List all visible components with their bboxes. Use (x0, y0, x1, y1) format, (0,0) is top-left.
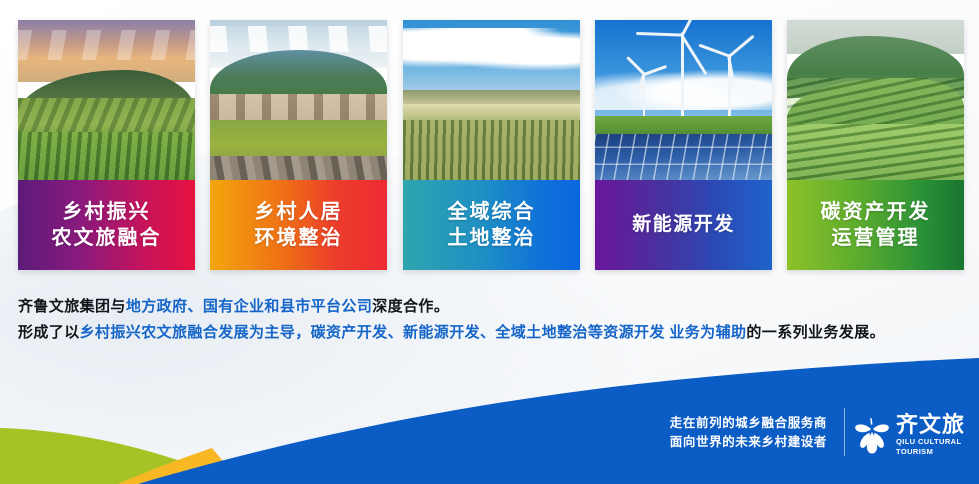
body-copy: 齐鲁文旅集团与地方政府、国有企业和县市平台公司深度合作。 形成了以乡村振兴农文旅… (18, 294, 938, 346)
card-comprehensive-land-consolidation[interactable]: 全域综合 土地整治 (403, 20, 580, 270)
copy-p1-part-c: 深度合作。 (372, 298, 449, 315)
card-rural-revitalization[interactable]: 乡村振兴 农文旅融合 (18, 20, 195, 270)
footer-tagline-line1: 走在前列的城乡融合服务商 (670, 414, 827, 433)
footer-tagline: 走在前列的城乡融合服务商 面向世界的未来乡村建设者 (670, 414, 827, 452)
card-label-band: 新能源开发 (595, 180, 772, 270)
card-rural-living-environment[interactable]: 乡村人居 环境整治 (210, 20, 387, 270)
card-label-line2: 农文旅融合 (52, 225, 162, 251)
card-label-band: 全域综合 土地整治 (403, 180, 580, 270)
card-photo-village-houses-stone-wall (210, 20, 387, 180)
brand-name-en-line1: QILU CULTURAL (896, 437, 965, 447)
card-label-line2: 环境整治 (255, 225, 343, 251)
flower-petal-logo-icon (854, 415, 890, 455)
card-photo-flat-plowed-field-blue-sky (403, 20, 580, 180)
slide-canvas: 乡村振兴 农文旅融合 乡村人居 环境整治 全域综合 土地整治 (0, 0, 979, 484)
card-label-band: 乡村人居 环境整治 (210, 180, 387, 270)
card-label-line1: 全域综合 (448, 199, 536, 225)
footer-tagline-line2: 面向世界的未来乡村建设者 (670, 433, 827, 452)
wind-turbine-mast (681, 32, 684, 124)
footer-wave-decoration (0, 344, 979, 484)
card-label-line1: 乡村人居 (255, 199, 343, 225)
copy-p1-part-a: 齐鲁文旅集团与 (18, 298, 126, 315)
wave-svg (0, 344, 979, 484)
brand-lockup: 齐文旅 QILU CULTURAL TOURISM (854, 413, 965, 457)
wave-blue (138, 358, 979, 484)
card-label-line1: 新能源开发 (632, 213, 735, 238)
copy-p2-part-c: 的一系列业务发展。 (746, 324, 885, 341)
copy-p2-highlight: 乡村振兴农文旅融合发展为主导，碳资产开发、新能源开发、全域土地整治等资源开发 业… (80, 324, 747, 341)
brand-name-en-line2: TOURISM (896, 447, 965, 457)
copy-p1-highlight: 地方政府、国有企业和县市平台公司 (126, 298, 372, 315)
card-label-band: 乡村振兴 农文旅融合 (18, 180, 195, 270)
card-carbon-asset-development[interactable]: 碳资产开发 运营管理 (787, 20, 964, 270)
brand-name-cn: 齐文旅 (896, 413, 965, 437)
card-label-line2: 土地整治 (448, 225, 536, 251)
copy-p2-part-a: 形成了以 (18, 324, 80, 341)
card-label-line2: 运营管理 (832, 225, 920, 251)
card-label-line1: 碳资产开发 (821, 199, 931, 225)
business-card-row: 乡村振兴 农文旅融合 乡村人居 环境整治 全域综合 土地整治 (0, 0, 979, 272)
card-photo-hillside-farmland-sunset (18, 20, 195, 180)
footer-divider (844, 408, 846, 456)
card-new-energy-development[interactable]: 新能源开发 (595, 20, 772, 270)
card-label-line1: 乡村振兴 (63, 199, 151, 225)
copy-paragraph-1: 齐鲁文旅集团与地方政府、国有企业和县市平台公司深度合作。 (18, 294, 938, 320)
card-label-band: 碳资产开发 运营管理 (787, 180, 964, 270)
brand-names: 齐文旅 QILU CULTURAL TOURISM (896, 413, 965, 457)
card-photo-wind-turbines-solar-panels (595, 20, 772, 180)
copy-paragraph-2: 形成了以乡村振兴农文旅融合发展为主导，碳资产开发、新能源开发、全域土地整治等资源… (18, 320, 938, 346)
card-photo-terraced-green-mountains (787, 20, 964, 180)
